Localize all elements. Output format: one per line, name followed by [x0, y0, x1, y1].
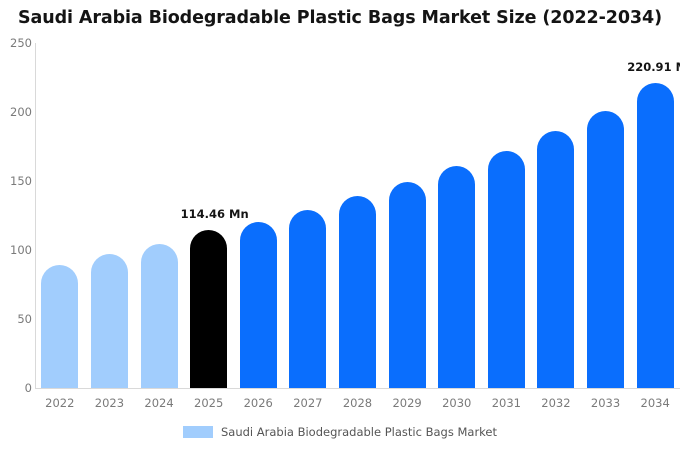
x-axis-tick-2027: 2027: [283, 396, 333, 410]
bar-2024[interactable]: [141, 244, 178, 388]
bar-value-label-2025: 114.46 Mn: [181, 207, 249, 221]
x-axis-tick-2022: 2022: [35, 396, 85, 410]
x-axis-tick-2034: 2034: [630, 396, 680, 410]
bar-2031[interactable]: [488, 151, 525, 388]
x-axis-tick-2031: 2031: [482, 396, 532, 410]
chart-container: Saudi Arabia Biodegradable Plastic Bags …: [0, 0, 680, 450]
bar-2026[interactable]: [240, 222, 277, 388]
x-axis-tick-2023: 2023: [85, 396, 135, 410]
x-axis-tick-2024: 2024: [134, 396, 184, 410]
bar-2027[interactable]: [289, 210, 326, 388]
x-axis-tick-2029: 2029: [382, 396, 432, 410]
bar-2029[interactable]: [389, 182, 426, 388]
bar-2030[interactable]: [438, 166, 475, 388]
x-axis-tick-2025: 2025: [184, 396, 234, 410]
bar-2033[interactable]: [587, 111, 624, 388]
x-axis-tick-2032: 2032: [531, 396, 581, 410]
x-axis-tick-2028: 2028: [333, 396, 383, 410]
bar-2032[interactable]: [537, 131, 574, 388]
bar-2022[interactable]: [41, 265, 78, 388]
x-axis-tick-2033: 2033: [581, 396, 631, 410]
bar-2034[interactable]: [637, 83, 674, 388]
bar-value-label-2034: 220.91 Mn: [627, 60, 680, 74]
legend-label: Saudi Arabia Biodegradable Plastic Bags …: [221, 425, 497, 439]
x-axis-tick-2026: 2026: [233, 396, 283, 410]
chart-legend: Saudi Arabia Biodegradable Plastic Bags …: [0, 425, 680, 439]
bars-layer: 2022202320242025114.46 Mn202620272028202…: [0, 0, 680, 450]
x-axis-tick-2030: 2030: [432, 396, 482, 410]
legend-swatch: [183, 426, 213, 438]
bar-2025[interactable]: [190, 230, 227, 388]
bar-2028[interactable]: [339, 196, 376, 388]
bar-2023[interactable]: [91, 254, 128, 388]
